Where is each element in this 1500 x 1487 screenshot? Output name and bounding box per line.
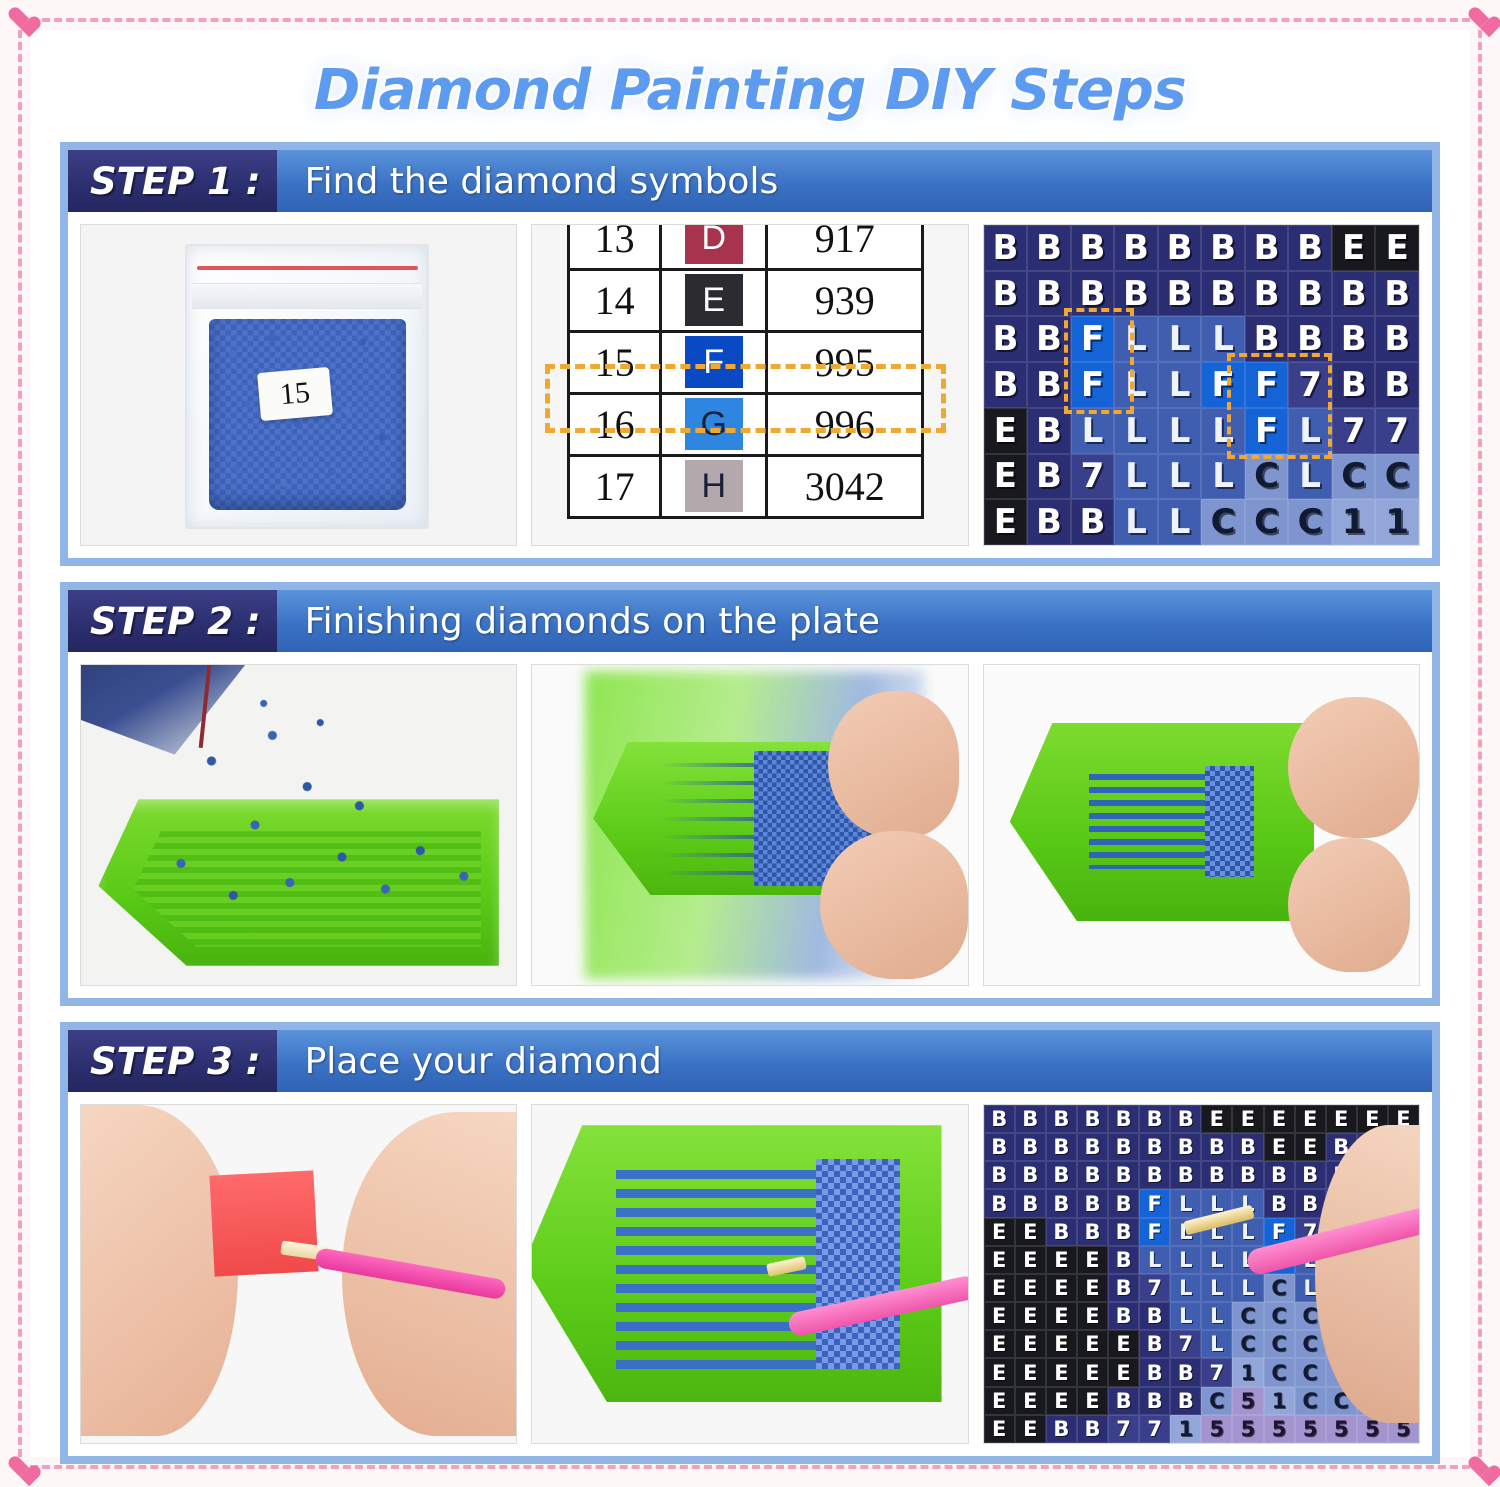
grid-cell: 5 <box>1295 1415 1326 1443</box>
table-row: 13D917 <box>569 225 923 269</box>
pen-wax-scene <box>81 1105 516 1443</box>
grid-cell: E <box>1326 1105 1357 1133</box>
grid-cell: B <box>1232 1161 1263 1189</box>
hand-top <box>1288 697 1419 838</box>
grid-cell: B <box>1027 408 1071 454</box>
content-canvas: Diamond Painting DIY Steps STEP 1 : Find… <box>30 30 1470 1457</box>
grid-cell: B <box>1071 225 1115 271</box>
grid-cell: E <box>1015 1302 1046 1330</box>
grid-cell: L <box>1114 316 1158 362</box>
grid-cell: B <box>1108 1274 1139 1302</box>
grid-cell: L <box>1170 1189 1201 1217</box>
grid-cell: E <box>1201 1105 1232 1133</box>
grid-cell: B <box>984 1161 1015 1189</box>
grid-cell: E <box>1015 1274 1046 1302</box>
grid-cell: E <box>1046 1302 1077 1330</box>
grid-cell: 7 <box>1108 1415 1139 1443</box>
grid-cell: 1 <box>1264 1387 1295 1415</box>
grid-cell: E <box>984 1274 1015 1302</box>
grid-cell: F <box>1071 362 1115 408</box>
grid-cell: L <box>1201 316 1245 362</box>
grid-cell: E <box>1077 1358 1108 1386</box>
step-1-title: Find the diamond symbols <box>277 150 779 212</box>
aligned-drills-photo <box>983 664 1420 986</box>
table-row: 15F995 <box>569 331 923 393</box>
grid-cell: B <box>1170 1105 1201 1133</box>
cell-number: 13 <box>569 225 661 269</box>
grid-cell: E <box>1015 1246 1046 1274</box>
grid-cell: E <box>1295 1105 1326 1133</box>
grid-cell: C <box>1295 1387 1326 1415</box>
grid-cell: E <box>1232 1105 1263 1133</box>
heart-icon-top-right <box>1467 7 1493 31</box>
grid-cell: B <box>1170 1133 1201 1161</box>
grid-cell: E <box>984 499 1028 545</box>
grid-cell: B <box>1077 1415 1108 1443</box>
step-3-header: STEP 3 : Place your diamond <box>68 1030 1432 1092</box>
grid-cell: 5 <box>1264 1415 1295 1443</box>
grid-cell: B <box>1015 1105 1046 1133</box>
pick-drill-photo <box>531 1104 968 1444</box>
grid-cell: 7 <box>1170 1330 1201 1358</box>
hand-bottom <box>1288 838 1410 972</box>
grid-cell: B <box>1170 1387 1201 1415</box>
grid-cell: B <box>1077 1105 1108 1133</box>
grid-cell: B <box>1071 271 1115 317</box>
grid-cell: E <box>1077 1274 1108 1302</box>
grid-cell: B <box>1108 1387 1139 1415</box>
grid-cell: B <box>1071 499 1115 545</box>
cell-dmc-code: 995 <box>767 331 923 393</box>
align-scene <box>984 665 1419 985</box>
bag-scene: 15 <box>81 225 516 545</box>
grid-cell: L <box>1158 454 1202 500</box>
grid-cell: 7 <box>1332 408 1376 454</box>
grid-cell: E <box>1015 1358 1046 1386</box>
grid-cell: L <box>1201 408 1245 454</box>
step-1-body: 15 13D91714E93915F99516G99617H3042 <box>68 212 1432 558</box>
step-block-1: STEP 1 : Find the diamond symbols 15 <box>60 142 1440 566</box>
page-title: Diamond Painting DIY Steps <box>314 58 1186 123</box>
grid-cell: C <box>1245 499 1289 545</box>
bag-seal <box>192 283 422 309</box>
grid-cell: B <box>1139 1387 1170 1415</box>
grid-cell: B <box>1139 1161 1170 1189</box>
step-1-header: STEP 1 : Find the diamond symbols <box>68 150 1432 212</box>
grid-cell: B <box>1046 1415 1077 1443</box>
grid-cell: B <box>1332 362 1376 408</box>
grid-cell: F <box>1245 408 1289 454</box>
grid-cell: 5 <box>1201 1415 1232 1443</box>
grid-cell: B <box>1139 1105 1170 1133</box>
grid-cell: E <box>1264 1105 1295 1133</box>
cell-number: 14 <box>569 269 661 331</box>
green-tray-full <box>532 1125 941 1402</box>
drill-heap <box>1205 766 1254 877</box>
grid-cell: B <box>1114 271 1158 317</box>
symbol-chip: H <box>685 460 743 512</box>
grid-cell: F <box>1139 1189 1170 1217</box>
grid-cell: B <box>1108 1161 1139 1189</box>
cell-symbol: G <box>661 393 767 455</box>
step-3-badge: STEP 3 : <box>68 1030 277 1092</box>
grid-cell: B <box>984 225 1028 271</box>
grid-cell: B <box>1027 316 1071 362</box>
grid-cell: 7 <box>1288 362 1332 408</box>
symbol-chip: E <box>685 274 743 326</box>
grid-cell: 7 <box>1375 408 1419 454</box>
grid-cell: B <box>1046 1105 1077 1133</box>
grid-cell: B <box>1027 454 1071 500</box>
grid-cell: 7 <box>1071 454 1115 500</box>
pink-wax-square <box>209 1170 319 1277</box>
grid-cell: B <box>1027 362 1071 408</box>
step-block-3: STEP 3 : Place your diamond <box>60 1022 1440 1464</box>
grid-cell: B <box>1232 1133 1263 1161</box>
grid-cell: E <box>984 408 1028 454</box>
grid-cell: B <box>1015 1133 1046 1161</box>
grid-cell: B <box>1139 1133 1170 1161</box>
grid-cell: B <box>1108 1246 1139 1274</box>
cell-symbol: F <box>661 331 767 393</box>
drill-heap <box>816 1159 900 1370</box>
grid-cell: 1 <box>1170 1415 1201 1443</box>
grid-cell: B <box>1077 1133 1108 1161</box>
grid-cell: B <box>984 1105 1015 1133</box>
step-3-body: BBBBBBBEEEEEEEBBBBBBBBBEEBBEBBBBBBBBBBBB… <box>68 1092 1432 1456</box>
grid-cell: L <box>1170 1274 1201 1302</box>
grid-cell: C <box>1375 454 1419 500</box>
grid-cell: L <box>1158 362 1202 408</box>
cell-dmc-code: 3042 <box>767 455 923 517</box>
heart-icon-bottom-right <box>1467 1456 1493 1480</box>
grid-cell: B <box>1245 225 1289 271</box>
symbol-grid-step1: BBBBBBBBEEBBBBBBBBBBBBFLLLBBBBBBFLLFF7BB… <box>984 225 1419 545</box>
grid-cell: 7 <box>1139 1415 1170 1443</box>
pen-wax-photo <box>80 1104 517 1444</box>
grid-cell: B <box>1027 225 1071 271</box>
grid-cell: B <box>1288 316 1332 362</box>
grid-cell: B <box>1015 1161 1046 1189</box>
grid-cell: F <box>1201 362 1245 408</box>
dmc-symbol-table: 13D91714E93915F99516G99617H3042 <box>567 225 924 519</box>
grid-cell: B <box>1046 1218 1077 1246</box>
shake-tray-photo <box>531 664 968 986</box>
grid-cell: E <box>984 1387 1015 1415</box>
grid-cell: L <box>1201 1330 1232 1358</box>
pouring-bag <box>81 665 255 755</box>
step-3-title: Place your diamond <box>277 1030 662 1092</box>
grid-cell: 5 <box>1326 1415 1357 1443</box>
grid-cell: B <box>1201 271 1245 317</box>
grid-cell: L <box>1158 408 1202 454</box>
grid-cell: E <box>1108 1330 1139 1358</box>
green-tray-aligned <box>1010 723 1315 921</box>
grid-cell: C <box>1264 1330 1295 1358</box>
grid-cell: B <box>1077 1161 1108 1189</box>
grid-cell: L <box>1288 408 1332 454</box>
symbol-chip: G <box>685 398 743 450</box>
grid-cell: E <box>1046 1358 1077 1386</box>
grid-cell: E <box>1046 1246 1077 1274</box>
grid-cell: L <box>1071 408 1115 454</box>
bag-zip-strip <box>197 266 418 270</box>
grid-cell: B <box>1245 271 1289 317</box>
grid-cell: E <box>1015 1218 1046 1246</box>
table-row: 14E939 <box>569 269 923 331</box>
grid-cell: L <box>1201 454 1245 500</box>
step-2-body <box>68 652 1432 998</box>
grid-cell: B <box>1170 1358 1201 1386</box>
grid-cell: B <box>1201 1133 1232 1161</box>
table-row: 16G996 <box>569 393 923 455</box>
grid-cell: E <box>984 454 1028 500</box>
grid-cell: B <box>1108 1218 1139 1246</box>
grid-cell: 7 <box>1201 1358 1232 1386</box>
bag-number-label: 15 <box>257 367 333 421</box>
grid-cell: E <box>984 1330 1015 1358</box>
grid-cell: B <box>984 362 1028 408</box>
grid-cell: E <box>984 1246 1015 1274</box>
grid-cell: B <box>1288 225 1332 271</box>
grid-cell: B <box>1108 1302 1139 1330</box>
grid-cell: E <box>1108 1358 1139 1386</box>
grid-cell: B <box>984 316 1028 362</box>
grid-cell: C <box>1288 499 1332 545</box>
heart-icon-top-left <box>7 7 33 31</box>
cell-number: 16 <box>569 393 661 455</box>
grid-cell: B <box>1139 1302 1170 1330</box>
grid-cell: F <box>1071 316 1115 362</box>
grid-cell: B <box>1375 271 1419 317</box>
grid-cell: E <box>1015 1387 1046 1415</box>
step-2-badge: STEP 2 : <box>68 590 277 652</box>
grid-cell: C <box>1232 1302 1263 1330</box>
grid-cell: E <box>1046 1274 1077 1302</box>
grid-cell: 1 <box>1232 1358 1263 1386</box>
grid-cell: E <box>1046 1387 1077 1415</box>
grid-cell: L <box>1158 499 1202 545</box>
grid-cell: E <box>1015 1330 1046 1358</box>
zip-bag: 15 <box>185 244 429 529</box>
grid-cell: L <box>1114 499 1158 545</box>
aligned-drill-rows <box>1089 774 1223 869</box>
grid-cell: E <box>984 1218 1015 1246</box>
grid-cell: C <box>1264 1302 1295 1330</box>
grid-cell: E <box>984 1358 1015 1386</box>
grid-cell: B <box>1332 271 1376 317</box>
grid-cell: B <box>1139 1358 1170 1386</box>
grid-cell: B <box>1077 1218 1108 1246</box>
pour-scene <box>81 665 516 985</box>
grid-cell: B <box>1295 1161 1326 1189</box>
grid-cell: B <box>1288 271 1332 317</box>
cell-dmc-code: 917 <box>767 225 923 269</box>
cell-number: 15 <box>569 331 661 393</box>
drill-bag-photo: 15 <box>80 224 517 546</box>
grid-cell: E <box>1046 1330 1077 1358</box>
grid-cell: B <box>1375 316 1419 362</box>
grid-cell: B <box>1170 1161 1201 1189</box>
step-2-header: STEP 2 : Finishing diamonds on the plate <box>68 590 1432 652</box>
grid-cell: L <box>1232 1274 1263 1302</box>
grid-cell: E <box>1375 225 1419 271</box>
grid-cell: B <box>1027 499 1071 545</box>
grid-cell: L <box>1170 1246 1201 1274</box>
grid-cell: C <box>1332 454 1376 500</box>
table-row: 17H3042 <box>569 455 923 517</box>
grid-cell: B <box>1158 225 1202 271</box>
step-block-2: STEP 2 : Finishing diamonds on the plate <box>60 582 1440 1006</box>
grid-cell: B <box>1264 1161 1295 1189</box>
grid-cell: 5 <box>1232 1415 1263 1443</box>
cell-symbol: H <box>661 455 767 517</box>
grid-cell: B <box>1201 1161 1232 1189</box>
grid-cell: L <box>1139 1246 1170 1274</box>
grid-cell: B <box>1027 271 1071 317</box>
grid-cell: E <box>1077 1302 1108 1330</box>
grid-cell: L <box>1201 1274 1232 1302</box>
grid-cell: L <box>1158 316 1202 362</box>
grid-cell: B <box>1201 225 1245 271</box>
grid-cell: B <box>984 1189 1015 1217</box>
grid-cell: L <box>1114 408 1158 454</box>
grid-cell: E <box>1015 1415 1046 1443</box>
pick-drill-scene <box>532 1105 967 1443</box>
symbol-chip: D <box>685 225 743 264</box>
tray-grooves <box>133 831 481 946</box>
grid-cell: B <box>1046 1189 1077 1217</box>
symbol-chip: F <box>685 336 743 388</box>
grid-cell: C <box>1201 499 1245 545</box>
grid-cell: E <box>1332 225 1376 271</box>
cell-dmc-code: 996 <box>767 393 923 455</box>
grid-cell: C <box>1245 454 1289 500</box>
grid-cell: E <box>1264 1133 1295 1161</box>
grid-cell: B <box>1375 362 1419 408</box>
step-1-badge: STEP 1 : <box>68 150 277 212</box>
grid-cell: L <box>1114 362 1158 408</box>
grid-cell: C <box>1295 1358 1326 1386</box>
grid-cell: E <box>1077 1246 1108 1274</box>
grid-cell: B <box>1077 1189 1108 1217</box>
grid-cell: B <box>1158 271 1202 317</box>
hand-bottom <box>820 831 968 978</box>
cell-number: 17 <box>569 455 661 517</box>
heart-icon-bottom-left <box>7 1456 33 1480</box>
grid-cell: B <box>1108 1189 1139 1217</box>
grid-cell: F <box>1245 362 1289 408</box>
hand-top <box>828 691 959 838</box>
grid-cell: B <box>1139 1330 1170 1358</box>
grid-cell: E <box>1295 1133 1326 1161</box>
grid-cell: E <box>1077 1330 1108 1358</box>
grid-cell: 1 <box>1332 499 1376 545</box>
grid-cell: L <box>1201 1302 1232 1330</box>
grid-cell: E <box>984 1302 1015 1330</box>
grid-cell: B <box>1046 1161 1077 1189</box>
grid-cell: F <box>1139 1218 1170 1246</box>
grid-cell: C <box>1201 1387 1232 1415</box>
cell-symbol: D <box>661 225 767 269</box>
grid-cell: L <box>1201 1246 1232 1274</box>
symbol-chart-photo: 13D91714E93915F99516G99617H3042 <box>531 224 968 546</box>
infographic-page: Diamond Painting DIY Steps STEP 1 : Find… <box>0 0 1500 1487</box>
chart-scene: 13D91714E93915F99516G99617H3042 <box>532 225 967 545</box>
grid-cell: B <box>984 1133 1015 1161</box>
grid-cell: B <box>1108 1105 1139 1133</box>
pattern-grid-photo: BBBBBBBBEEBBBBBBBBBBBBFLLLBBBBBBFLLFF7BB… <box>983 224 1420 546</box>
grid-cell: L <box>1170 1302 1201 1330</box>
grid-cell: L <box>1114 454 1158 500</box>
grid-cell: C <box>1264 1358 1295 1386</box>
grid-cell: B <box>1245 316 1289 362</box>
grid-cell: 7 <box>1139 1274 1170 1302</box>
title-banner: Diamond Painting DIY Steps <box>60 38 1440 142</box>
grid-cell: B <box>1108 1133 1139 1161</box>
grid-cell: C <box>1264 1274 1295 1302</box>
grid-cell: 1 <box>1375 499 1419 545</box>
pour-drills-photo <box>80 664 517 986</box>
grid-cell: B <box>1015 1189 1046 1217</box>
canvas-grid-photo: BBBBBBBEEEEEEEBBBBBBBBBEEBBEBBBBBBBBBBBB… <box>983 1104 1420 1444</box>
grid-cell: B <box>1046 1133 1077 1161</box>
grid-cell: B <box>1264 1189 1295 1217</box>
cell-symbol: E <box>661 269 767 331</box>
grid-cell: B <box>1332 316 1376 362</box>
grid-cell: L <box>1288 454 1332 500</box>
grid-cell: C <box>1232 1330 1263 1358</box>
grid-scene-step1: BBBBBBBBEEBBBBBBBBBBBBFLLLBBBBBBFLLFF7BB… <box>984 225 1419 545</box>
shake-scene <box>532 665 967 985</box>
cell-dmc-code: 939 <box>767 269 923 331</box>
grid-cell: B <box>984 271 1028 317</box>
grid-cell: E <box>1077 1387 1108 1415</box>
step-2-title: Finishing diamonds on the plate <box>277 590 880 652</box>
grid-scene-step3: BBBBBBBEEEEEEEBBBBBBBBBEEBBEBBBBBBBBBBBB… <box>984 1105 1419 1443</box>
grid-cell: E <box>984 1415 1015 1443</box>
grid-cell: B <box>1114 225 1158 271</box>
grid-cell: 5 <box>1232 1387 1263 1415</box>
